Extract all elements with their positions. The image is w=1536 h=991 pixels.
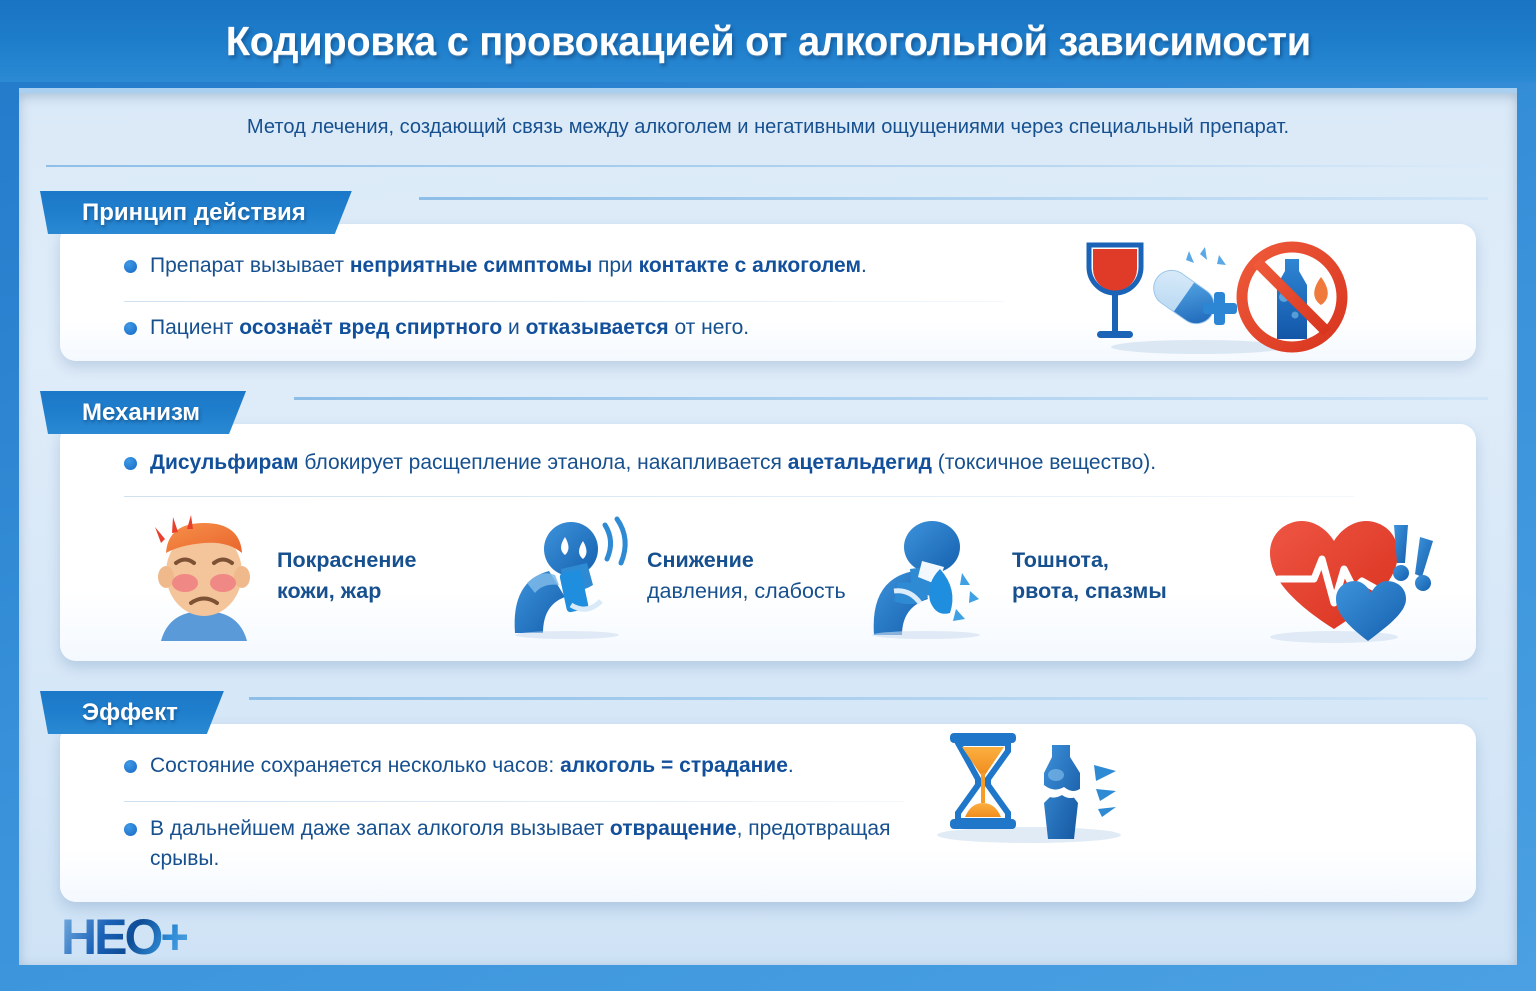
brand-logo: НЕО+	[61, 908, 187, 966]
splash-icon	[953, 573, 979, 621]
bullet-item: Состояние сохраняется несколько часов: а…	[124, 751, 904, 781]
bullet-item: Дисульфирам блокирует расщепление этанол…	[124, 448, 1354, 478]
ribbon-accent-line	[249, 697, 1488, 700]
symptom-low-pressure: Снижение давления, слабость	[509, 513, 846, 639]
bullet-text: В дальнейшем даже запах алкоголя вызывае…	[150, 814, 914, 874]
poster-header: Кодировка с провокацией от алкогольной з…	[0, 0, 1536, 82]
pill-capsule-icon	[1147, 263, 1222, 330]
bullet-dot-icon	[124, 260, 137, 273]
symptom-label: Тошнота, рвота, спазмы	[1012, 545, 1167, 607]
symptom-label: Снижение давления, слабость	[647, 545, 846, 607]
heartbeat-icon	[1264, 511, 1439, 651]
intro-text: Метод лечения, создающий связь между алк…	[34, 115, 1502, 139]
bullet-item: Препарат вызывает неприятные симптомы пр…	[124, 251, 1004, 281]
dizzy-person-icon	[509, 513, 639, 639]
bullet-text: Препарат вызывает неприятные симптомы пр…	[150, 251, 867, 281]
glass-shards-icon	[1094, 765, 1116, 817]
bullet-text: Дисульфирам блокирует расщепление этанол…	[150, 448, 1156, 478]
ribbon-accent-line	[419, 197, 1488, 200]
bullet-item: Пациент осознаёт вред спиртного и отказы…	[124, 313, 1004, 343]
exclamation-marks-icon	[1393, 525, 1433, 591]
infographic-poster: Кодировка с провокацией от алкогольной з…	[0, 0, 1536, 991]
intro-divider	[46, 165, 1488, 167]
section-title-principle: Принцип действия	[40, 191, 352, 234]
flushed-face-icon	[139, 511, 269, 641]
section-title-mechanism: Механизм	[40, 391, 246, 434]
bullet-dot-icon	[124, 322, 137, 335]
dizzy-waves-icon	[605, 519, 625, 563]
bullet-text: Пациент осознаёт вред спиртного и отказы…	[150, 313, 749, 343]
broken-bottle-icon	[1042, 745, 1116, 839]
bullet-divider	[124, 496, 1354, 497]
no-alcohol-sign-icon	[1242, 247, 1342, 347]
bullet-dot-icon	[124, 823, 137, 836]
symptom-label: Покраснение кожи, жар	[277, 545, 417, 607]
bullet-dot-icon	[124, 760, 137, 773]
icon-group-drug-alcohol	[1079, 235, 1359, 360]
hourglass-icon	[950, 733, 1016, 829]
bullet-text: Состояние сохраняется несколько часов: а…	[150, 751, 794, 781]
sparkle-icon	[1186, 247, 1226, 265]
wine-glass-icon	[1089, 245, 1141, 338]
page-title: Кодировка с провокацией от алкогольной з…	[225, 18, 1310, 65]
bullet-dot-icon	[124, 457, 137, 470]
vomiting-person-icon	[864, 513, 1004, 639]
bullet-divider	[124, 801, 904, 802]
bullet-item: В дальнейшем даже запах алкоголя вызывае…	[124, 814, 914, 874]
ribbon-accent-line	[294, 397, 1488, 400]
section-title-effect: Эффект	[40, 691, 224, 734]
symptom-flushed-skin: Покраснение кожи, жар	[139, 511, 417, 641]
icon-group-time-broken-bottle	[924, 719, 1139, 844]
symptom-nausea: Тошнота, рвота, спазмы	[864, 513, 1167, 639]
main-panel: Метод лечения, создающий связь между алк…	[19, 88, 1517, 965]
bullet-divider	[124, 301, 1004, 302]
